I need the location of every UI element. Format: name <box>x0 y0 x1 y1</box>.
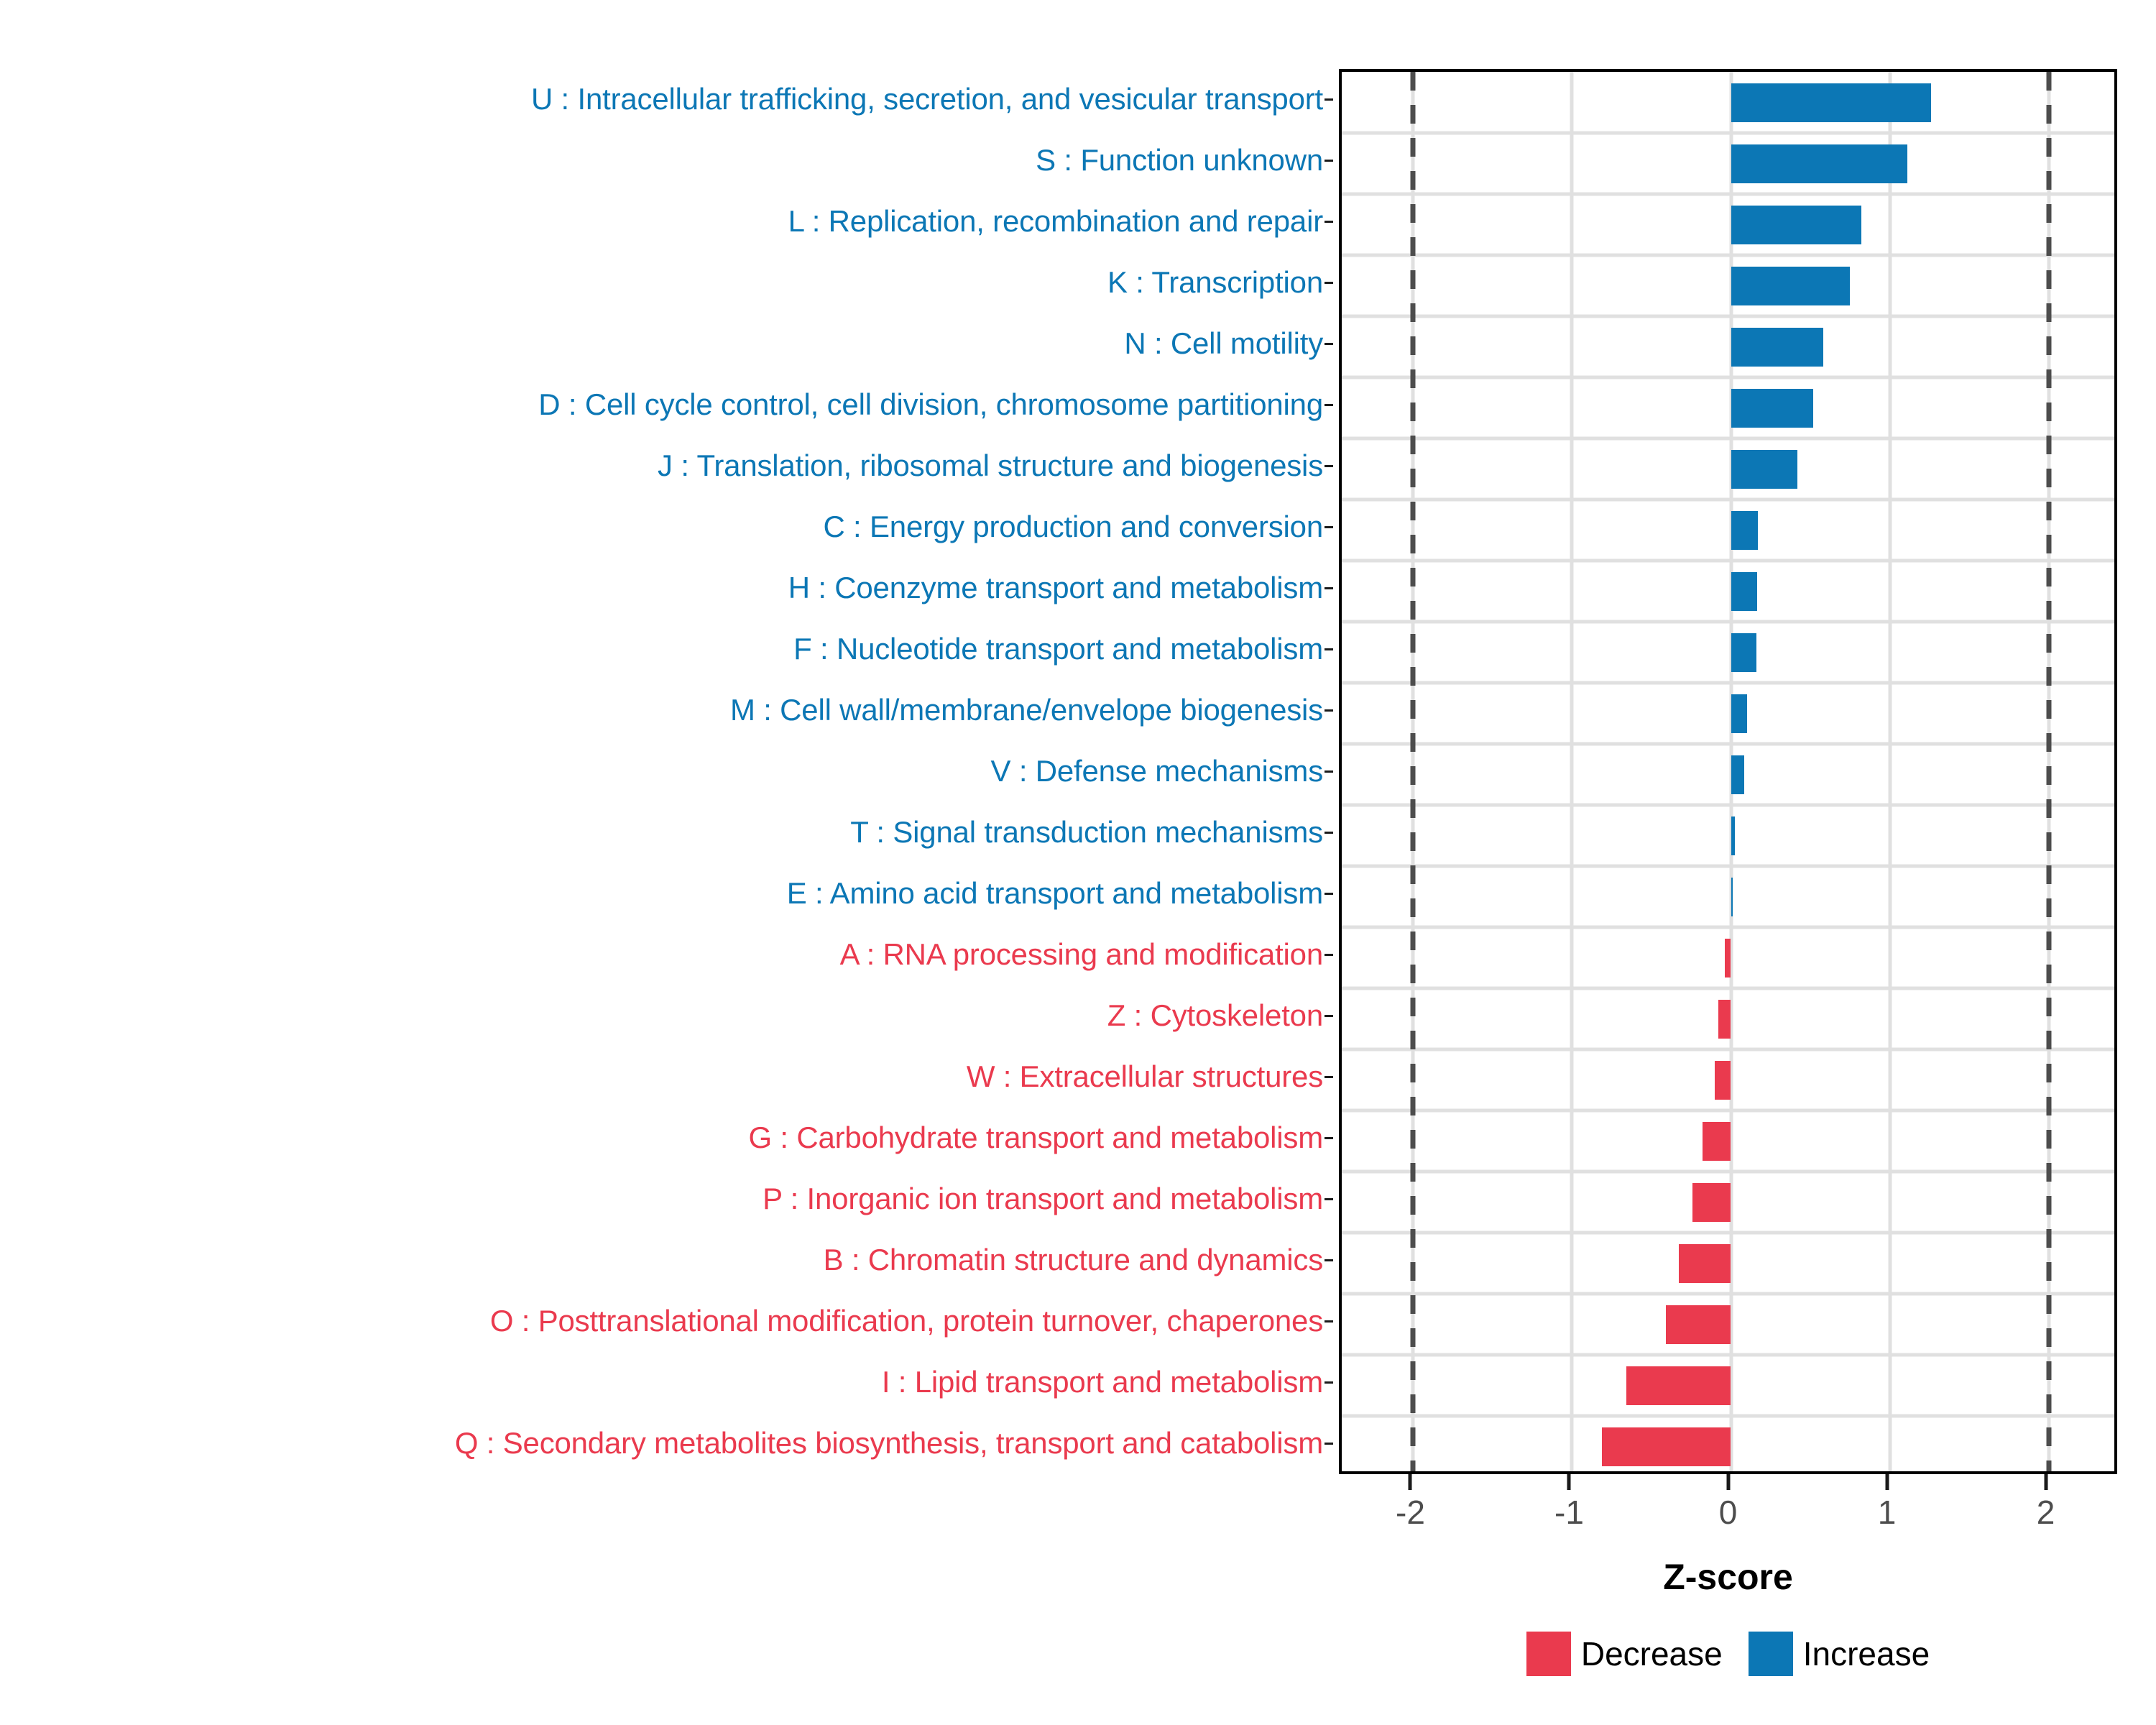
x-axis-title: Z-score <box>1339 1556 2117 1598</box>
reference-dashed-line <box>1411 72 1416 1471</box>
category-label: B : Chromatin structure and dynamics <box>824 1244 1323 1276</box>
category-label: D : Cell cycle control, cell division, c… <box>538 389 1323 420</box>
bar <box>1731 694 1747 733</box>
horizontal-gridline <box>1342 193 2114 196</box>
y-axis-tick <box>1325 526 1333 528</box>
vertical-gridline <box>1570 72 1574 1471</box>
bar <box>1731 144 1907 183</box>
category-label: I : Lipid transport and metabolism <box>882 1366 1323 1398</box>
horizontal-gridline <box>1342 1109 2114 1113</box>
bar <box>1715 1061 1731 1100</box>
x-axis-tick <box>1409 1474 1412 1490</box>
horizontal-gridline <box>1342 804 2114 807</box>
legend-swatch <box>1749 1632 1793 1676</box>
category-label-row: E : Amino acid transport and metabolism <box>0 863 1333 924</box>
legend-item[interactable]: Decrease <box>1526 1632 1723 1676</box>
bar <box>1731 511 1759 550</box>
x-axis-tick-label: -1 <box>1554 1493 1584 1532</box>
bar <box>1731 633 1756 672</box>
y-axis-tick <box>1325 954 1333 956</box>
category-label-row: Q : Secondary metabolites biosynthesis, … <box>0 1413 1333 1474</box>
horizontal-gridline <box>1342 987 2114 990</box>
y-axis-tick <box>1325 404 1333 406</box>
bar <box>1679 1244 1731 1283</box>
y-axis-tick <box>1325 282 1333 284</box>
category-label-row: B : Chromatin structure and dynamics <box>0 1230 1333 1291</box>
category-label-row: S : Function unknown <box>0 130 1333 191</box>
y-axis-tick <box>1325 893 1333 895</box>
y-axis-tick <box>1325 709 1333 712</box>
category-label: V : Defense mechanisms <box>991 755 1323 787</box>
category-label: Q : Secondary metabolites biosynthesis, … <box>455 1427 1323 1459</box>
category-label-row: U : Intracellular trafficking, secretion… <box>0 69 1333 130</box>
category-label-row: O : Posttranslational modification, prot… <box>0 1291 1333 1352</box>
bar <box>1602 1427 1731 1466</box>
y-axis-tick <box>1325 160 1333 162</box>
horizontal-gridline <box>1342 1353 2114 1357</box>
bar <box>1731 389 1814 428</box>
category-label-row: M : Cell wall/membrane/envelope biogenes… <box>0 680 1333 741</box>
category-label: J : Translation, ribosomal structure and… <box>658 450 1323 482</box>
x-axis-tick-label: 2 <box>2037 1493 2055 1532</box>
category-label: U : Intracellular trafficking, secretion… <box>531 83 1323 115</box>
category-label-row: P : Inorganic ion transport and metaboli… <box>0 1169 1333 1230</box>
category-label-row: Z : Cytoskeleton <box>0 985 1333 1046</box>
y-axis-tick <box>1325 343 1333 345</box>
horizontal-gridline <box>1342 865 2114 868</box>
bar <box>1718 1000 1731 1039</box>
bar <box>1731 878 1733 916</box>
horizontal-gridline <box>1342 437 2114 441</box>
legend-label: Decrease <box>1581 1634 1723 1673</box>
category-label-row: D : Cell cycle control, cell division, c… <box>0 374 1333 436</box>
category-label: F : Nucleotide transport and metabolism <box>793 633 1323 665</box>
bar <box>1692 1183 1731 1222</box>
category-label: H : Coenzyme transport and metabolism <box>788 572 1323 604</box>
category-label: S : Function unknown <box>1036 144 1323 176</box>
bar <box>1703 1122 1731 1161</box>
horizontal-gridline <box>1342 559 2114 563</box>
horizontal-gridline <box>1342 498 2114 502</box>
y-axis-tick <box>1325 465 1333 467</box>
category-label: W : Extracellular structures <box>967 1061 1323 1092</box>
x-axis-tick-label: 0 <box>1719 1493 1738 1532</box>
bar <box>1731 206 1861 244</box>
horizontal-gridline <box>1342 315 2114 318</box>
plot-panel <box>1339 69 2117 1474</box>
horizontal-gridline <box>1342 254 2114 257</box>
x-axis-tick-label: 1 <box>1878 1493 1897 1532</box>
vertical-gridline <box>1888 72 1892 1471</box>
horizontal-gridline <box>1342 926 2114 929</box>
bar <box>1731 328 1823 367</box>
category-label-row: F : Nucleotide transport and metabolism <box>0 619 1333 680</box>
category-label: O : Posttranslational modification, prot… <box>490 1305 1323 1337</box>
category-label-row: H : Coenzyme transport and metabolism <box>0 558 1333 619</box>
category-label: G : Carbohydrate transport and metabolis… <box>748 1122 1323 1154</box>
horizontal-gridline <box>1342 1414 2114 1418</box>
y-axis-tick <box>1325 1076 1333 1078</box>
horizontal-gridline <box>1342 681 2114 685</box>
y-axis-tick <box>1325 1015 1333 1017</box>
plot-area <box>1342 72 2114 1471</box>
category-label-row: A : RNA processing and modification <box>0 924 1333 985</box>
y-axis-tick <box>1325 1381 1333 1384</box>
x-axis-tick <box>1726 1474 1730 1490</box>
category-label-row: K : Transcription <box>0 252 1333 313</box>
bar <box>1731 450 1798 489</box>
category-label: L : Replication, recombination and repai… <box>788 206 1323 237</box>
horizontal-gridline <box>1342 1170 2114 1174</box>
bar <box>1731 83 1931 122</box>
category-label-row: I : Lipid transport and metabolism <box>0 1352 1333 1413</box>
bar <box>1626 1366 1731 1405</box>
category-axis-labels: U : Intracellular trafficking, secretion… <box>0 69 1333 1474</box>
category-label: P : Inorganic ion transport and metaboli… <box>763 1183 1323 1215</box>
y-axis-tick <box>1325 1320 1333 1322</box>
horizontal-gridline <box>1342 1292 2114 1296</box>
category-label-row: J : Translation, ribosomal structure and… <box>0 436 1333 497</box>
x-axis-tick <box>1885 1474 1889 1490</box>
y-axis-tick <box>1325 98 1333 101</box>
legend-item[interactable]: Increase <box>1749 1632 1930 1676</box>
y-axis-tick <box>1325 648 1333 650</box>
category-label: K : Transcription <box>1107 267 1323 298</box>
x-axis: -2-1012 <box>1339 1474 2117 1560</box>
y-axis-tick <box>1325 832 1333 834</box>
category-label-row: V : Defense mechanisms <box>0 741 1333 802</box>
x-axis-tick <box>1567 1474 1571 1490</box>
category-label-row: L : Replication, recombination and repai… <box>0 191 1333 252</box>
horizontal-gridline <box>1342 376 2114 379</box>
bar <box>1731 267 1851 305</box>
horizontal-gridline <box>1342 132 2114 135</box>
y-axis-tick <box>1325 1198 1333 1200</box>
y-axis-tick <box>1325 1137 1333 1139</box>
category-label: C : Energy production and conversion <box>823 511 1323 543</box>
y-axis-tick <box>1325 221 1333 223</box>
legend-swatch <box>1526 1632 1571 1676</box>
category-label: E : Amino acid transport and metabolism <box>787 878 1323 909</box>
category-label: M : Cell wall/membrane/envelope biogenes… <box>730 694 1323 726</box>
category-label: T : Signal transduction mechanisms <box>850 816 1323 848</box>
legend: DecreaseIncrease <box>1339 1632 2117 1676</box>
category-label: N : Cell motility <box>1124 328 1323 359</box>
category-label-row: G : Carbohydrate transport and metabolis… <box>0 1108 1333 1169</box>
legend-label: Increase <box>1803 1634 1930 1673</box>
horizontal-gridline <box>1342 742 2114 746</box>
y-axis-tick <box>1325 770 1333 773</box>
horizontal-gridline <box>1342 1231 2114 1235</box>
bar <box>1725 939 1731 977</box>
y-axis-tick <box>1325 1259 1333 1261</box>
category-label-row: C : Energy production and conversion <box>0 497 1333 558</box>
x-axis-tick-label: -2 <box>1396 1493 1425 1532</box>
chart-root: U : Intracellular trafficking, secretion… <box>0 0 2156 1725</box>
category-label: Z : Cytoskeleton <box>1107 1000 1323 1031</box>
reference-dashed-line <box>2046 72 2051 1471</box>
bar <box>1731 816 1736 855</box>
category-label-row: N : Cell motility <box>0 313 1333 374</box>
category-label: A : RNA processing and modification <box>840 939 1323 970</box>
horizontal-gridline <box>1342 620 2114 624</box>
y-axis-tick <box>1325 587 1333 589</box>
bar <box>1731 755 1745 794</box>
bar <box>1731 572 1757 611</box>
bar <box>1666 1305 1731 1344</box>
y-axis-tick <box>1325 1443 1333 1445</box>
category-label-row: W : Extracellular structures <box>0 1046 1333 1108</box>
x-axis-tick <box>2044 1474 2047 1490</box>
category-label-row: T : Signal transduction mechanisms <box>0 802 1333 863</box>
horizontal-gridline <box>1342 1048 2114 1052</box>
